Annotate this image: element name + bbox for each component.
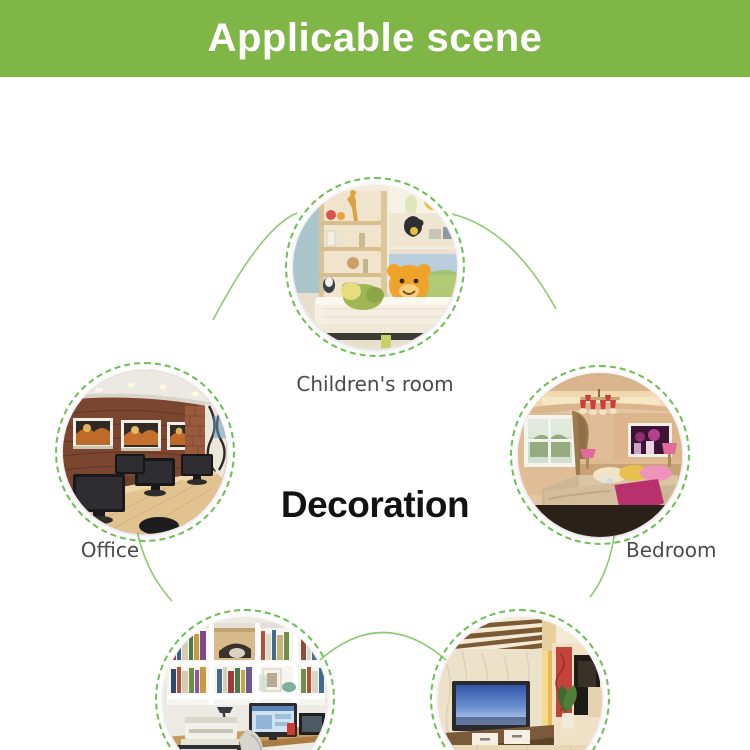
study-photo bbox=[163, 617, 327, 750]
label-childrens-room: Children's room bbox=[296, 372, 453, 396]
bedroom-photo bbox=[518, 373, 682, 537]
applicable-scene-infographic: Applicable scene bbox=[0, 0, 750, 750]
office-photo bbox=[63, 370, 227, 534]
living-room-photo bbox=[438, 617, 602, 750]
diagram-stage: Decoration Children's room Bedroom Livin… bbox=[0, 77, 750, 750]
center-label: Decoration bbox=[281, 484, 469, 526]
label-bedroom: Bedroom bbox=[626, 538, 716, 562]
header-banner: Applicable scene bbox=[0, 0, 750, 77]
label-office: Office bbox=[81, 538, 139, 562]
children-room-photo bbox=[293, 185, 457, 349]
page-title: Applicable scene bbox=[208, 18, 543, 58]
